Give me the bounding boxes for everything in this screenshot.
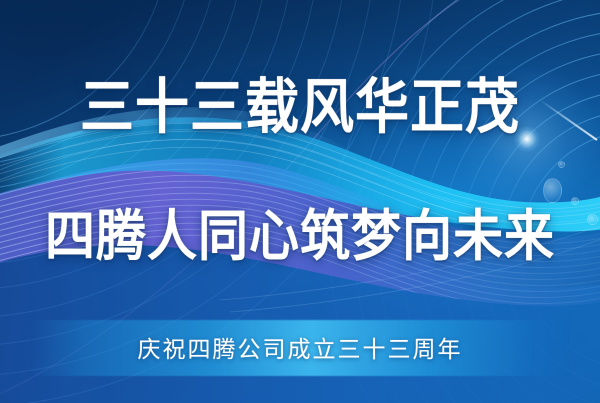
banner-subtitle: 庆祝四腾公司成立三十三周年 [0,330,600,364]
headline-line-2: 四腾人同心筑梦向未来 [0,192,600,271]
anniversary-banner: 三十三载风华正茂 四腾人同心筑梦向未来 庆祝四腾公司成立三十三周年 [0,0,600,403]
banner-content: 三十三载风华正茂 四腾人同心筑梦向未来 庆祝四腾公司成立三十三周年 [0,0,600,403]
headline-line-1: 三十三载风华正茂 [0,58,600,145]
